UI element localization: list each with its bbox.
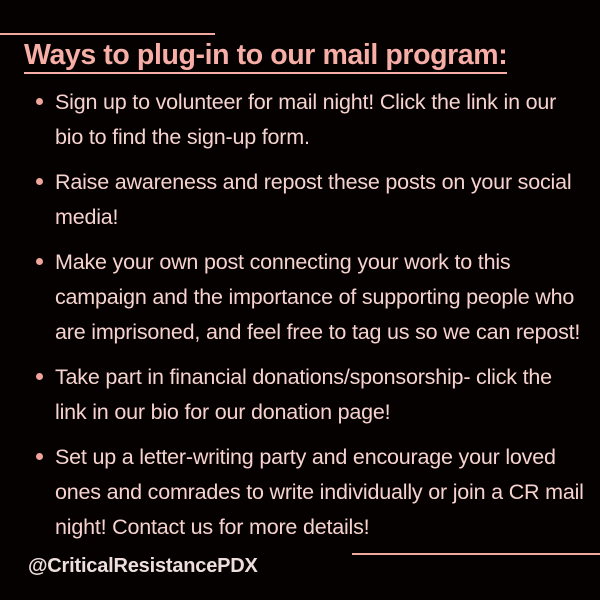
list-item: Set up a letter-writing party and encour… — [36, 440, 588, 545]
bullet-list: Sign up to volunteer for mail night! Cli… — [36, 85, 588, 555]
list-item: Make your own post connecting your work … — [36, 245, 588, 350]
social-handle: @CriticalResistancePDX — [28, 555, 258, 578]
page-title: Ways to plug-in to our mail program: — [24, 38, 584, 72]
list-item-text: Sign up to volunteer for mail night! Cli… — [55, 85, 588, 155]
list-item-text: Make your own post connecting your work … — [55, 245, 588, 350]
bullet-dot-icon — [36, 258, 43, 265]
bullet-dot-icon — [36, 178, 43, 185]
bullet-dot-icon — [36, 373, 43, 380]
list-item-text: Take part in financial donations/sponsor… — [55, 360, 588, 430]
list-item: Sign up to volunteer for mail night! Cli… — [36, 85, 588, 155]
bullet-dot-icon — [36, 453, 43, 460]
list-item: Take part in financial donations/sponsor… — [36, 360, 588, 430]
bottom-divider-rule — [352, 553, 600, 555]
list-item: Raise awareness and repost these posts o… — [36, 165, 588, 235]
page-title-text: Ways to plug-in to our mail program: — [24, 39, 507, 74]
bullet-dot-icon — [36, 98, 43, 105]
poster-canvas: Ways to plug-in to our mail program: Sig… — [0, 0, 600, 600]
list-item-text: Set up a letter-writing party and encour… — [55, 440, 588, 545]
list-item-text: Raise awareness and repost these posts o… — [55, 165, 588, 235]
top-divider-rule — [0, 33, 215, 35]
